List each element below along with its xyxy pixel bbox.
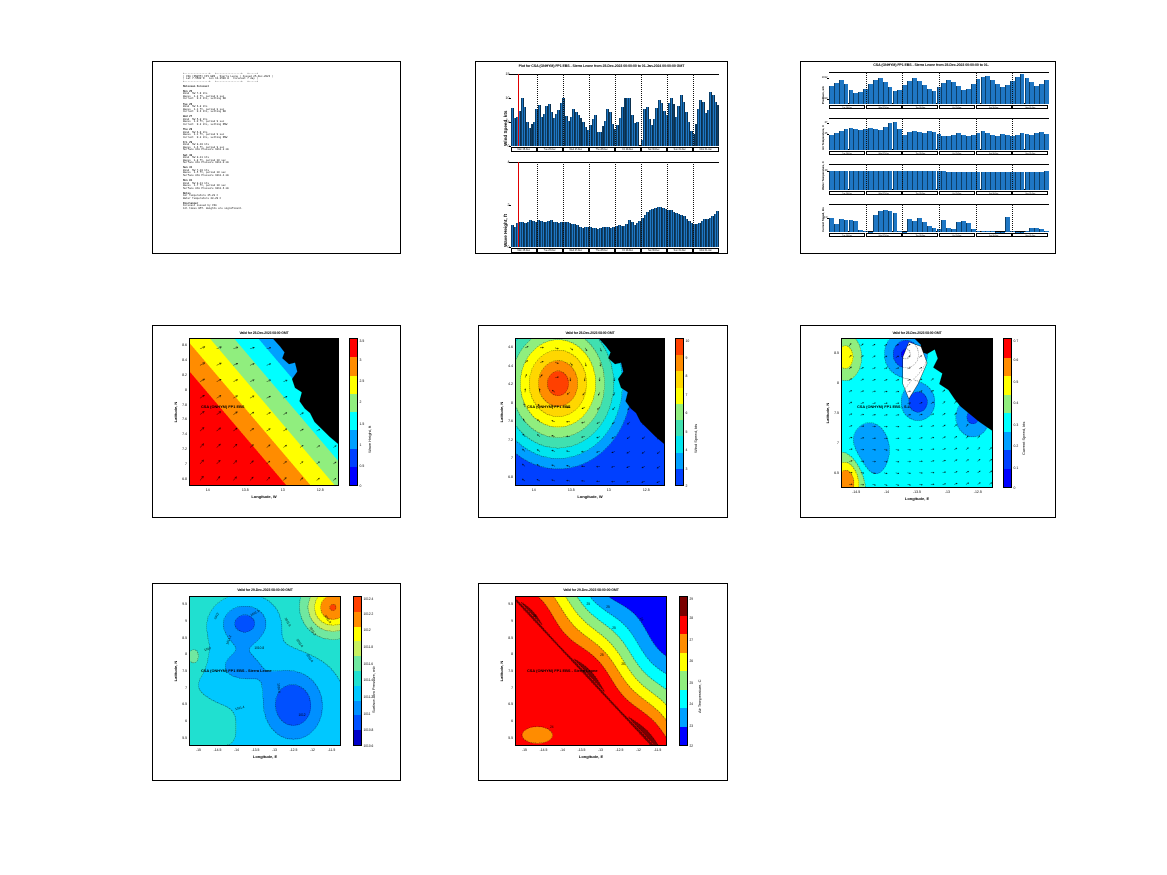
colorbar-band [676, 469, 683, 485]
wind-speed-map-panel: Valid for 25-Dec-2023 08:00 GMTCSA (ONHY… [478, 325, 728, 518]
grid-line [902, 204, 903, 232]
grid-line [902, 164, 903, 190]
map-title: Valid for 25-Dec-2023 08:00 GMT [515, 331, 665, 335]
colorbar-tick: 0.6 [1014, 358, 1019, 362]
grid-line [939, 164, 940, 190]
y-tick: 6 [503, 719, 513, 723]
colorbar-tick: 23 [690, 724, 694, 728]
colorbar-tick: 2 [360, 400, 362, 404]
date-tick-label: Tue 26-Dec [829, 233, 865, 237]
subplot-water-temperature-c [829, 164, 1049, 190]
map-title: Valid for 29-Dec-2023 08:00:00 GMT [189, 588, 341, 592]
colorbar-band [354, 612, 361, 627]
site-label: CSA (ONHYM) FP1 EBS - Sierra Leone [527, 668, 598, 673]
x-tick: 14 [524, 488, 544, 492]
y-tick: 7.6 [177, 417, 187, 421]
x-tick: -13 [937, 490, 957, 494]
date-tick-label: Sat 30-Dec [641, 147, 667, 152]
colorbar-band [350, 339, 357, 357]
grid-line [1012, 204, 1013, 232]
colorbar-tick: 5 [686, 430, 688, 434]
x-tick: 13.5 [561, 488, 581, 492]
y-tick: 7 [177, 686, 187, 690]
subplot-current-speed-kts [829, 204, 1049, 232]
y-tick: 7.6 [503, 419, 513, 423]
colorbar-label: Current Speed, kts [1021, 422, 1026, 455]
date-tick-label: Sat 30-Dec [976, 151, 1012, 155]
air-temperature-map-colorbar [679, 596, 688, 746]
wave-height-map-plot-area [189, 338, 339, 486]
y-tick: 6.5 [829, 471, 839, 475]
colorbar-tick: 2.5 [360, 379, 365, 383]
map-title: Valid for 25-Dec-2023 08:00 GMT [189, 331, 339, 335]
colorbar-band [354, 715, 361, 730]
wind-wave-timeseries-panel: Plot for CSA (ONHYM) FP1 EBS - Sierra Le… [475, 61, 728, 254]
pressure-map-panel: Valid for 29-Dec-2023 08:00:00 GMTCSA (O… [152, 583, 401, 781]
y-tick: 7.5 [829, 411, 839, 415]
x-tick: -14.5 [208, 748, 228, 752]
contour-label: 25 [586, 602, 590, 606]
y-tick: 4.2 [503, 382, 513, 386]
date-tick-label: Sat 30-Dec [641, 248, 667, 253]
grid-line [563, 162, 564, 247]
colorbar-tick: 29 [690, 597, 694, 601]
x-tick: -15 [189, 748, 209, 752]
colorbar-tick: 1 [360, 443, 362, 447]
map-title: Valid for 25-Dec-2023 08:00 GMT [841, 331, 993, 335]
y-tick: 25 [818, 132, 828, 135]
date-tick-label: Mon 25-Dec [511, 248, 537, 253]
x-tick: -13 [265, 748, 285, 752]
x-tick: -15 [515, 748, 535, 752]
grid-line [976, 204, 977, 232]
bar [1005, 217, 1010, 232]
site-label: CSA (ONHYM) FP1 EBS - Sierra Leone [201, 668, 272, 673]
colorbar-tick: 0.3 [1014, 423, 1019, 427]
date-tick-label: Sun 31-Dec [1012, 151, 1048, 155]
y-axis-label: Latitude, N [173, 338, 178, 486]
colorbar-tick: 1011 [364, 712, 371, 716]
colorbar-band [1004, 469, 1011, 488]
contour-label: 1010.8 [254, 646, 264, 650]
contour-label: 26 [621, 662, 625, 666]
site-label: CSA (ONHYM) FP1 EBS [201, 404, 245, 409]
grid-line [589, 162, 590, 247]
grid-line [537, 162, 538, 247]
x-axis-label: Longitude, W [515, 494, 665, 499]
colorbar-band [354, 656, 361, 671]
bar [893, 213, 898, 232]
grid-line [866, 72, 867, 104]
colorbar-tick: 1011.8 [364, 645, 374, 649]
bar [1044, 171, 1049, 190]
date-tick-label: Wed 27-Dec [563, 147, 589, 152]
colorbar-band [1004, 413, 1011, 432]
colorbar-tick: 0 [360, 484, 362, 488]
wave-height-map-panel: Valid for 25-Dec-2023 08:00 GMTCSA (ONHY… [152, 325, 401, 518]
date-tick-label: Wed 27-Dec [866, 105, 902, 109]
y-tick: 0.3 [818, 216, 828, 219]
x-tick: -14 [227, 748, 247, 752]
colorbar-band [680, 727, 687, 746]
x-tick: -12 [303, 748, 323, 752]
forecast-text-panel: +----------------+ +----------------+ +-… [152, 61, 401, 254]
colorbar-band [676, 339, 683, 355]
wind-speed-map-contour-canvas [516, 339, 665, 486]
colorbar-tick: 3.5 [360, 339, 365, 343]
current-time-marker [518, 74, 519, 146]
date-tick-label: Tue 26-Dec [829, 105, 865, 109]
colorbar-band [680, 634, 687, 653]
colorbar-tick: 1012.4 [364, 597, 374, 601]
y-tick: 8 [829, 381, 839, 385]
date-tick-label: Sun 31-Dec [667, 147, 693, 152]
colorbar-band [680, 690, 687, 709]
date-tick-label: Thu 28-Dec [902, 151, 938, 155]
date-tick-label: Tue 26-Dec [829, 151, 865, 155]
x-tick: -12.5 [968, 490, 988, 494]
x-tick: 12.5 [636, 488, 656, 492]
x-tick: 13 [599, 488, 619, 492]
date-tick-label: Fri 29-Dec [939, 105, 975, 109]
grid-line [693, 162, 694, 247]
x-tick: 13.5 [235, 488, 255, 492]
y-tick: 8 [177, 652, 187, 656]
colorbar-band [676, 355, 683, 371]
x-axis-label: Longitude, E [841, 496, 993, 501]
site-label: CSA (ONHYM) FP1 EBS - S.L. [857, 404, 911, 409]
x-axis-label: Longitude, E [515, 754, 667, 759]
colorbar-band [676, 420, 683, 436]
current-time-marker [518, 162, 519, 247]
y-tick: 6 [177, 719, 187, 723]
x-tick: -12.5 [610, 748, 630, 752]
colorbar-tick: 26 [690, 659, 694, 663]
date-tick-label: Wed 27-Dec [866, 151, 902, 155]
colorbar-band [680, 653, 687, 672]
date-tick-label: Wed 27-Dec [866, 191, 902, 195]
x-tick: -12 [629, 748, 649, 752]
colorbar-tick: 0.7 [1014, 339, 1019, 343]
colorbar-band [350, 430, 357, 448]
x-tick: -13 [591, 748, 611, 752]
colorbar-band [1004, 376, 1011, 395]
colorbar-tick: 0.1 [1014, 466, 1019, 470]
y-tick: 6.8 [503, 475, 513, 479]
y-axis-label: Latitude, N [173, 596, 178, 746]
colorbar-tick: 0.2 [1014, 444, 1019, 448]
colorbar-tick: 1012.2 [364, 612, 374, 616]
colorbar-band [1004, 395, 1011, 414]
y-tick: 8.4 [177, 358, 187, 362]
colorbar-band [676, 371, 683, 387]
contour-label: 25 [606, 605, 610, 609]
colorbar-tick: 4 [686, 448, 688, 452]
colorbar-band [1004, 432, 1011, 451]
x-tick: -14.5 [534, 748, 554, 752]
contour-label: 24 [550, 725, 554, 729]
date-tick-label: Thu 28-Dec [589, 248, 615, 253]
y-tick: 4.4 [503, 364, 513, 368]
current-speed-map-colorbar [1003, 338, 1012, 488]
colorbar-tick: 0.4 [1014, 401, 1019, 405]
colorbar-band [354, 671, 361, 686]
air-temperature-map-panel: Valid for 29-Dec-2023 08:00:00 GMTCSA (O… [478, 583, 728, 781]
pressure-map-colorbar [353, 596, 362, 746]
date-tick-label: Sat 30-Dec [976, 191, 1012, 195]
date-tick-label: Tue 26-Dec [537, 147, 563, 152]
date-tick-label: Sun 31-Dec [667, 248, 693, 253]
colorbar-band [350, 394, 357, 412]
grid-line [976, 72, 977, 104]
x-tick: -12.5 [284, 748, 304, 752]
grid-line [902, 118, 903, 150]
colorbar-tick: 25 [690, 681, 694, 685]
y-tick: 1012 [818, 76, 828, 79]
grid-line [939, 118, 940, 150]
colorbar-tick: 28 [690, 616, 694, 620]
colorbar-tick: 1012 [364, 628, 371, 632]
grid-line [1012, 164, 1013, 190]
colorbar-band [1004, 358, 1011, 377]
contour-label: 1012 [298, 713, 305, 717]
colorbar-band [1004, 339, 1011, 358]
wave-height-map-contour-canvas [190, 339, 339, 486]
colorbar-band [680, 597, 687, 616]
y-tick: 4.6 [503, 345, 513, 349]
colorbar-band [1004, 450, 1011, 469]
x-axis-label: Longitude, E [189, 754, 341, 759]
date-tick-label: Sun 31-Dec [1012, 233, 1048, 237]
date-tick-label: Fri 29-Dec [939, 233, 975, 237]
contour-label: 25 [600, 653, 604, 657]
colorbar-tick: 0.5 [360, 464, 365, 468]
date-tick-label: Mon 01-Jan [693, 248, 719, 253]
y-tick: 6.5 [503, 702, 513, 706]
y-tick: 8.5 [503, 636, 513, 640]
x-tick: -14 [877, 490, 897, 494]
colorbar-band [676, 388, 683, 404]
colorbar-tick: 6 [686, 411, 688, 415]
colorbar-label: Wind Speed, kts [693, 424, 698, 453]
colorbar-band [354, 641, 361, 656]
chart2-title: CSA (ONHYM) FP1 EBS - Sierra Leone from … [807, 63, 1055, 67]
colorbar-band [350, 449, 357, 467]
subplot-air-temperature-c [829, 118, 1049, 150]
y-tick: 7 [177, 462, 187, 466]
y-axis-label: Wind Speed, kts [503, 74, 508, 146]
subplot-pressure-mb [829, 72, 1049, 104]
y-tick: 8 [503, 652, 513, 656]
y-tick: 8.5 [177, 636, 187, 640]
y-tick: 27 [818, 121, 828, 124]
y-tick: 7.5 [503, 669, 513, 673]
date-tick-label: Mon 25-Dec [511, 147, 537, 152]
y-tick: 8 [503, 401, 513, 405]
grid-line [1012, 72, 1013, 104]
grid-line [939, 204, 940, 232]
current-speed-map-panel: Valid for 25-Dec-2023 08:00 GMTCSA (ONHY… [800, 325, 1056, 518]
bar [1044, 80, 1049, 104]
y-tick: 7 [829, 441, 839, 445]
map-title: Valid for 29-Dec-2023 08:00:00 GMT [515, 588, 667, 592]
y-axis-label: Latitude, N [499, 596, 504, 746]
colorbar-tick: 10 [686, 339, 690, 343]
colorbar-band [350, 357, 357, 375]
date-tick-label: Sat 30-Dec [976, 105, 1012, 109]
grid-line [667, 162, 668, 247]
contour-label: 25 [612, 626, 616, 630]
site-label: CSA (ONHYM) FP1 EBS [527, 404, 571, 409]
date-tick-label: Wed 27-Dec [866, 233, 902, 237]
colorbar-band [354, 627, 361, 642]
colorbar-label: Air Temperature, C [697, 680, 702, 714]
y-tick: 8.5 [829, 351, 839, 355]
x-tick: -13.5 [246, 748, 266, 752]
x-tick: -14 [553, 748, 573, 752]
y-tick: 5.5 [503, 736, 513, 740]
current-speed-map-plot-area [841, 338, 993, 488]
date-tick-label: Thu 28-Dec [902, 233, 938, 237]
y-tick: 29 [818, 169, 828, 172]
colorbar-band [676, 436, 683, 452]
y-tick: 7.4 [177, 432, 187, 436]
wave-height-map-colorbar [349, 338, 358, 486]
subplot-wind-speed-kts [511, 74, 719, 146]
contour-label: 26 [533, 614, 537, 618]
y-tick: 5.5 [177, 736, 187, 740]
date-tick-label: Thu 28-Dec [902, 191, 938, 195]
colorbar-tick: 3 [686, 467, 688, 471]
date-tick-label: Thu 28-Dec [902, 105, 938, 109]
grid-line [667, 74, 668, 146]
colorbar-band [350, 376, 357, 394]
y-tick: 7.2 [503, 438, 513, 442]
y-tick: 7.8 [177, 403, 187, 407]
colorbar-band [680, 671, 687, 690]
date-tick-label: Tue 26-Dec [829, 191, 865, 195]
y-tick: 7 [503, 686, 513, 690]
date-tick-label: Wed 27-Dec [563, 248, 589, 253]
x-tick: -11.5 [648, 748, 668, 752]
current-speed-map-contour-canvas [842, 339, 993, 488]
grid-line [1012, 118, 1013, 150]
grid-line [976, 118, 977, 150]
grid-line [641, 74, 642, 146]
atm-ocean-timeseries-panel: CSA (ONHYM) FP1 EBS - Sierra Leone from … [800, 61, 1056, 254]
y-tick: 6.8 [177, 477, 187, 481]
y-tick: 7.2 [177, 447, 187, 451]
date-tick-label: Tue 26-Dec [537, 248, 563, 253]
x-tick: 12.5 [310, 488, 330, 492]
colorbar-tick: 0.5 [1014, 380, 1019, 384]
colorbar-tick: 7 [686, 393, 688, 397]
colorbar-tick: 27 [690, 638, 694, 642]
colorbar-tick: 8 [686, 374, 688, 378]
colorbar-band [350, 412, 357, 430]
y-tick: 7.5 [177, 669, 187, 673]
x-tick: 14 [198, 488, 218, 492]
colorbar-band [354, 686, 361, 701]
x-tick: -13.5 [572, 748, 592, 752]
colorbar-band [680, 708, 687, 727]
colorbar-band [354, 701, 361, 716]
colorbar-tick: 3 [360, 358, 362, 362]
grid-line [563, 74, 564, 146]
date-tick-label: Sat 30-Dec [976, 233, 1012, 237]
x-tick: -14.5 [846, 490, 866, 494]
y-tick: 6.5 [177, 702, 187, 706]
colorbar-band [350, 467, 357, 485]
y-tick: 8.6 [177, 343, 187, 347]
grid-line [641, 162, 642, 247]
grid-line [939, 72, 940, 104]
date-tick-label: Fri 29-Dec [615, 248, 641, 253]
y-tick: 9 [177, 619, 187, 623]
wind-speed-map-plot-area [515, 338, 665, 486]
y-tick: 7 [503, 456, 513, 460]
y-axis-label: Latitude, N [499, 338, 504, 486]
grid-line [615, 162, 616, 247]
grid-line [693, 74, 694, 146]
grid-line [866, 164, 867, 190]
y-tick: 9.5 [177, 602, 187, 606]
y-tick: 8.2 [177, 373, 187, 377]
date-tick-label: Sun 31-Dec [1012, 105, 1048, 109]
date-tick-label: Fri 29-Dec [939, 191, 975, 195]
colorbar-tick: 22 [690, 744, 694, 748]
x-tick: -11.5 [322, 748, 342, 752]
y-tick: 9.5 [503, 602, 513, 606]
colorbar-tick: 9 [686, 356, 688, 360]
date-tick-label: Thu 28-Dec [589, 147, 615, 152]
colorbar-band [354, 597, 361, 612]
date-tick-label: Mon 01-Jan [693, 147, 719, 152]
colorbar-band [354, 730, 361, 745]
grid-line [976, 164, 977, 190]
y-tick: 9 [503, 619, 513, 623]
grid-line [902, 72, 903, 104]
x-tick: 13 [273, 488, 293, 492]
colorbar-tick: 2 [686, 484, 688, 488]
forecast-text-line: All times GMT. Heights are significant. [183, 208, 396, 211]
date-tick-label: Sun 31-Dec [1012, 191, 1048, 195]
grid-line [537, 74, 538, 146]
forecast-text-body: +----------------+ +----------------+ +-… [183, 73, 396, 251]
date-tick-label: Fri 29-Dec [939, 151, 975, 155]
colorbar-tick: 1010.6 [364, 744, 374, 748]
wind-speed-map-colorbar [675, 338, 684, 486]
colorbar-band [680, 616, 687, 635]
grid-line [615, 74, 616, 146]
y-tick: 8 [177, 388, 187, 392]
colorbar-tick: 24 [690, 702, 694, 706]
x-tick: -13.5 [907, 490, 927, 494]
grid-line [589, 74, 590, 146]
colorbar-tick: 1010.8 [364, 728, 374, 732]
colorbar-tick: 1.5 [360, 422, 365, 426]
grid-line [866, 118, 867, 150]
date-tick-label: Fri 29-Dec [615, 147, 641, 152]
colorbar-tick: 0 [1014, 486, 1016, 490]
colorbar-label: Surface Atm Pressure, mb [371, 666, 376, 713]
colorbar-band [676, 404, 683, 420]
bar [1044, 134, 1049, 150]
y-tick: 1010 [818, 97, 828, 100]
y-axis-label: Latitude, N [825, 338, 830, 488]
subplot-wave-height-ft [511, 162, 719, 247]
colorbar-band [676, 453, 683, 469]
